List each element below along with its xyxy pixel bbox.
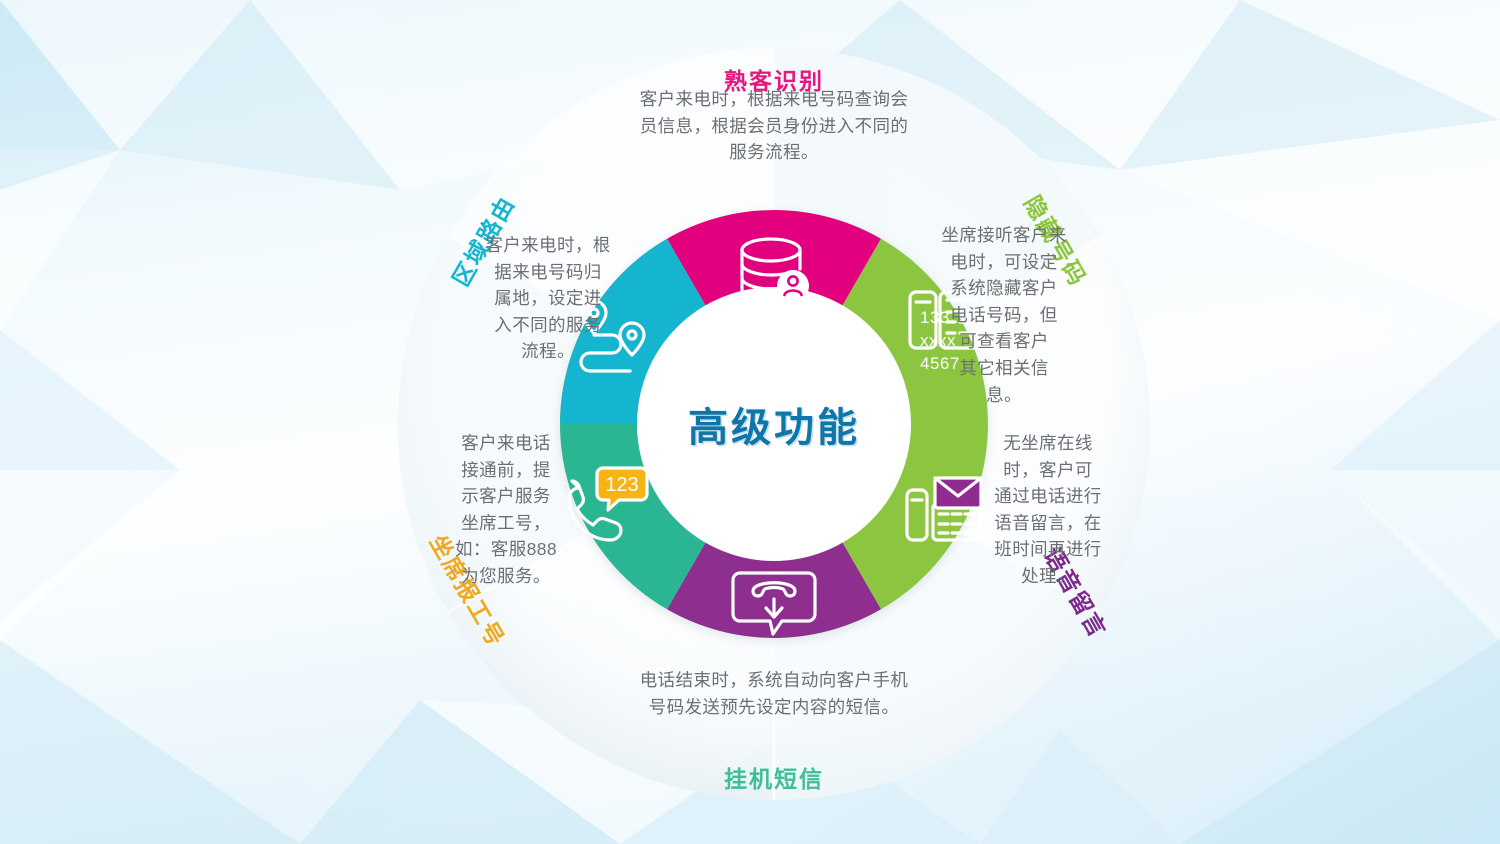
infographic-canvas: 123 高级功能 熟客识别 隐藏号码 语音留言 挂机短信 坐席报工号 区域路由 … [0, 0, 1500, 844]
segment-description-voice-mail: 无坐席在线 时，客户可 通过电话进行 语音留言，在 班时间再进行 处理。 [973, 430, 1123, 590]
segment-title-hangup-sms[interactable]: 挂机短信 [724, 760, 824, 794]
agent-id-sample-number: 123 [605, 474, 638, 496]
segment-description-hangup-sms: 电话结束时，系统自动向客户手机 号码发送预先设定内容的短信。 [594, 667, 954, 720]
center-title: 高级功能 [688, 395, 860, 453]
segment-description-area-routing: 客户来电时，根 据来电号码归 属地，设定进 入不同的服务 流程。 [468, 232, 628, 365]
hide-number-sample: 133 xxxx 4567 [920, 307, 960, 376]
segment-description-agent-id-announce: 客户来电话 接通前，提 示客户服务 坐席工号， 如：客服888 为您服务。 [431, 430, 581, 590]
segment-description-member-recognition: 客户来电时，根据来电号码查询会 员信息，根据会员身份进入不同的 服务流程。 [609, 86, 939, 166]
